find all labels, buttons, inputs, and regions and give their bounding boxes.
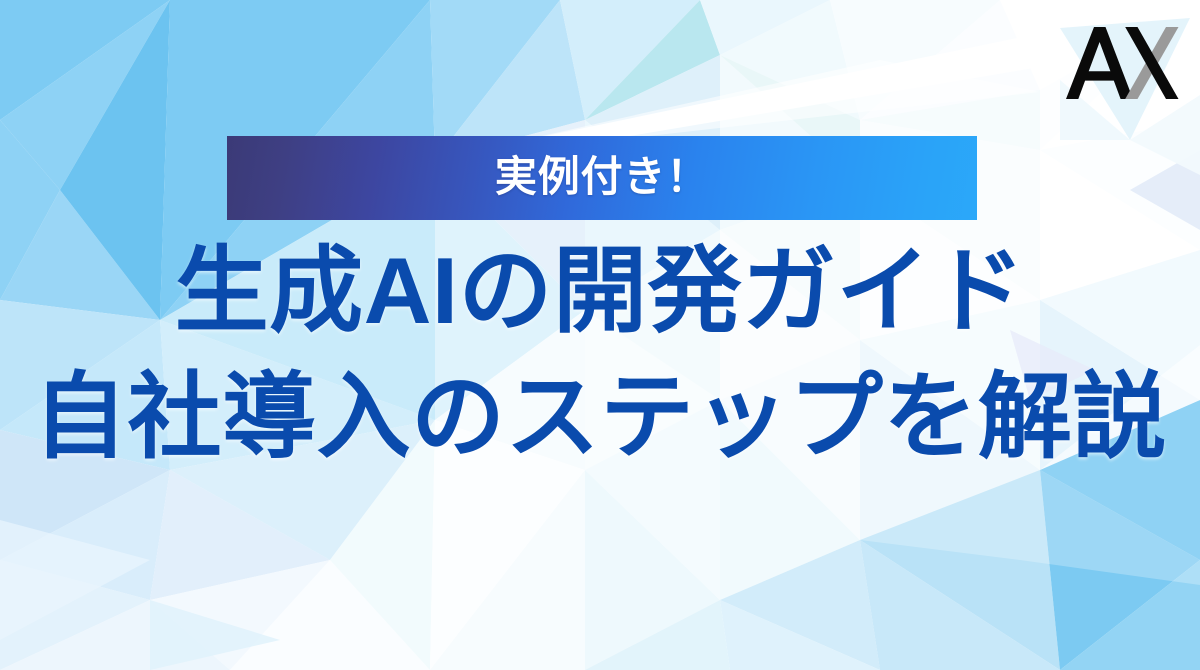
page-title: 生成AIの開発ガイド 自社導入のステップを解説: [0, 236, 1200, 472]
page-title-line-2: 自社導入のステップを解説: [0, 362, 1200, 472]
ax-logo-letter-a: [1066, 27, 1133, 99]
page-title-line-1: 生成AIの開発ガイド: [0, 236, 1200, 346]
kicker-banner: 実例付き！: [227, 136, 977, 220]
ax-logo: [1064, 25, 1180, 103]
kicker-banner-label: 実例付き！: [495, 156, 709, 198]
poster-canvas: 実例付き！ 生成AIの開発ガイド 自社導入のステップを解説: [0, 0, 1200, 670]
